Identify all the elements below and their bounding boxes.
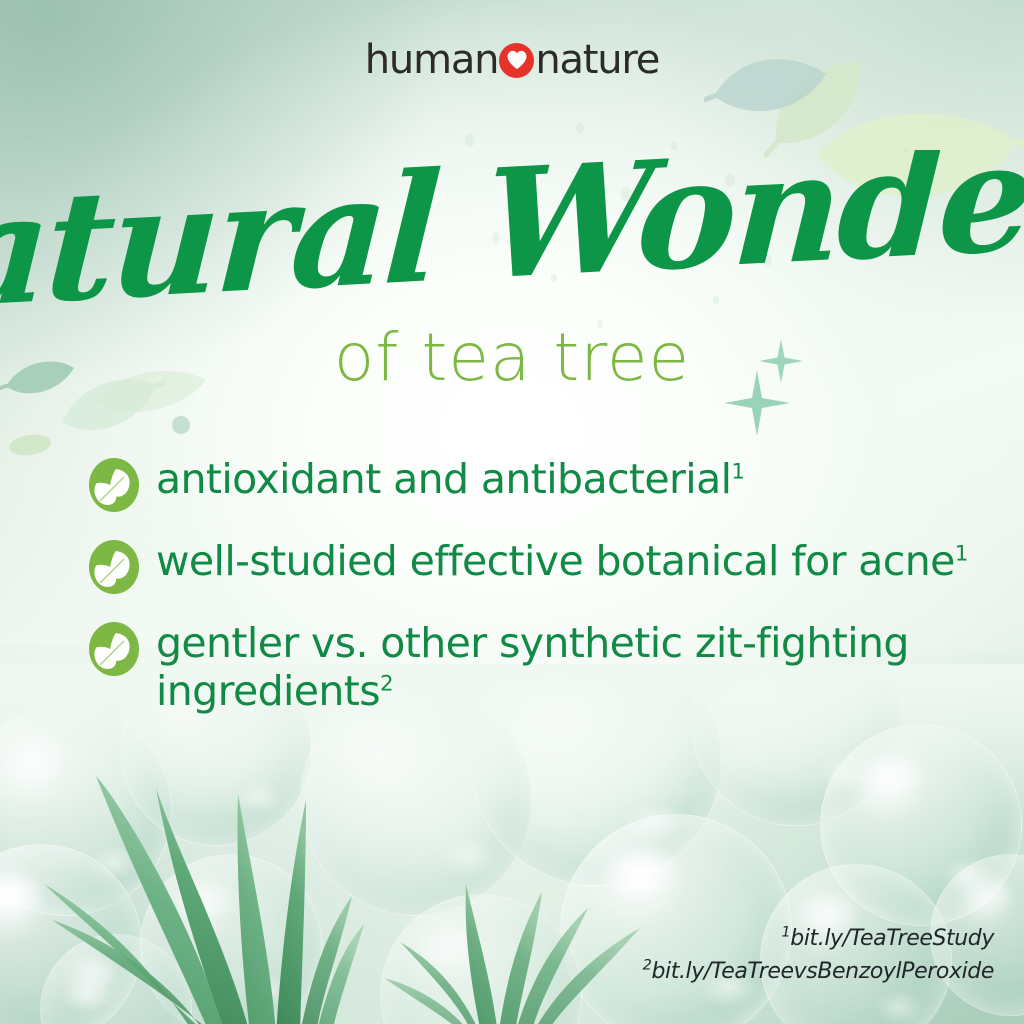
grass-blades-right: [330, 818, 660, 1024]
leaf-icon: [88, 539, 140, 595]
heart-icon: [499, 43, 534, 78]
list-item-label: antioxidant and antibacterial1: [156, 455, 744, 503]
benefits-list: antioxidant and antibacterial1 well-stud…: [88, 455, 974, 740]
footnote-item: 2bit.ly/TeaTreevsBenzoylPeroxide: [643, 955, 994, 988]
list-item: well-studied effective botanical for acn…: [88, 537, 974, 595]
list-item: antioxidant and antibacterial1: [88, 455, 974, 513]
headline-subtitle: of tea tree: [0, 325, 1024, 391]
list-item: gentler vs. other synthetic zit-fighting…: [88, 619, 974, 716]
list-item-label: gentler vs. other synthetic zit-fighting…: [156, 619, 974, 716]
svg-text:Natural Wonders: Natural Wonders: [0, 150, 1024, 320]
leaf-icon: [88, 457, 140, 513]
list-item-label: well-studied effective botanical for acn…: [156, 537, 968, 585]
brand-logo: human nature: [0, 40, 1024, 80]
poster-canvas: human nature Natural Wonders of tea tree: [0, 0, 1024, 1024]
leaf-icon: [88, 621, 140, 677]
headline-title: Natural Wonders: [0, 150, 1024, 320]
footnotes: 1bit.ly/TeaTreeStudy 2bit.ly/TeaTreevsBe…: [643, 922, 994, 988]
footnote-item: 1bit.ly/TeaTreeStudy: [643, 922, 994, 955]
logo-word-human: human: [365, 40, 499, 80]
logo-word-nature: nature: [535, 40, 659, 80]
